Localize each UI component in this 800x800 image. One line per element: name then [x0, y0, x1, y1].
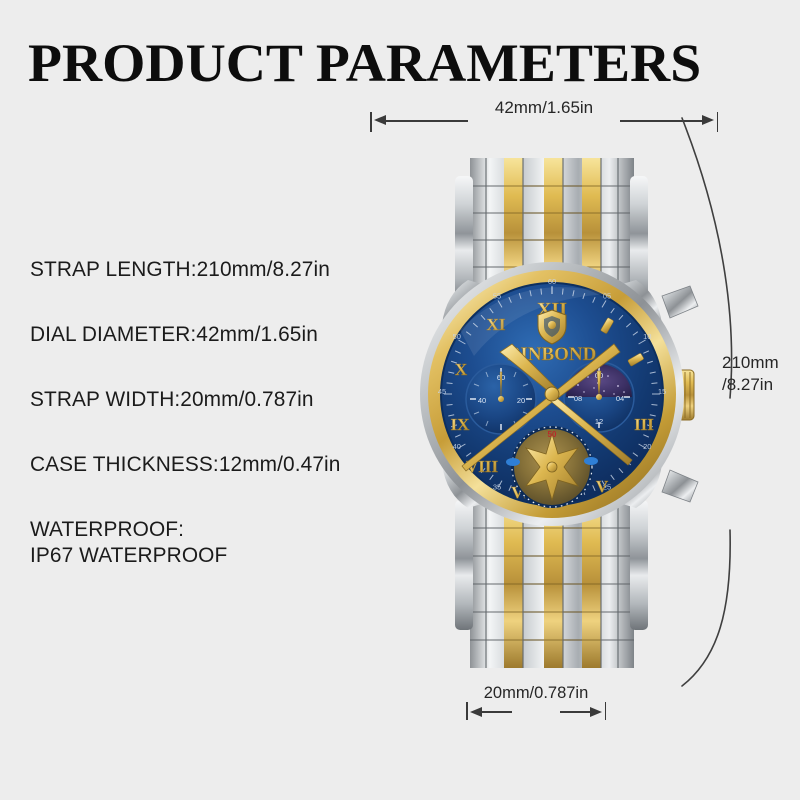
- dimension-bottom-line-right: [560, 711, 594, 713]
- svg-text:50: 50: [453, 332, 461, 341]
- tourbillon-aperture: 50: [511, 426, 593, 508]
- dimension-bottom-tick-right: [605, 702, 607, 720]
- dimension-bottom-tick-left: [466, 702, 468, 720]
- svg-text:X: X: [455, 360, 468, 379]
- svg-text:V: V: [596, 477, 609, 496]
- subdial-right: 00 04 12 08: [564, 362, 634, 432]
- svg-text:55: 55: [493, 292, 501, 301]
- watch-product-image: 60 05 10 15 20 25 30 35 40 45 50 55 XII …: [0, 0, 800, 800]
- svg-text:12: 12: [595, 417, 603, 426]
- dimension-bottom-strap-width: 20mm/0.787in: [466, 684, 606, 720]
- dimension-bottom-line-left: [478, 711, 512, 713]
- product-parameters-infographic: PRODUCT PARAMETERS 42mm/1.65in 210mm /8.…: [0, 0, 800, 800]
- svg-text:10: 10: [643, 332, 651, 341]
- svg-text:35: 35: [493, 482, 501, 491]
- svg-text:40: 40: [478, 396, 486, 405]
- svg-text:40: 40: [453, 442, 461, 451]
- svg-text:50: 50: [548, 430, 557, 439]
- svg-text:III: III: [634, 415, 654, 434]
- dimension-bottom-arrow-left-icon: [470, 707, 482, 717]
- dimension-bottom-label: 20mm/0.787in: [446, 684, 626, 703]
- svg-text:04: 04: [616, 394, 624, 403]
- dimension-bottom-arrow-right-icon: [590, 707, 602, 717]
- svg-text:15: 15: [658, 387, 666, 396]
- svg-text:45: 45: [438, 387, 446, 396]
- svg-text:20: 20: [643, 442, 651, 451]
- svg-text:60: 60: [548, 277, 556, 286]
- svg-text:08: 08: [574, 394, 582, 403]
- svg-text:IX: IX: [451, 415, 471, 434]
- svg-text:20: 20: [517, 396, 525, 405]
